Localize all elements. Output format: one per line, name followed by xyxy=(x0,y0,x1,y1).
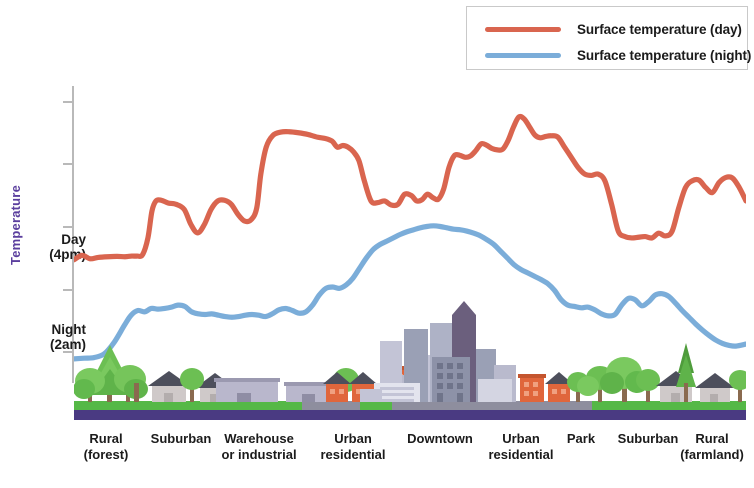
y-axis-tick xyxy=(63,101,73,103)
y-axis-tick xyxy=(63,289,73,291)
legend-label-day: Surface temperature (day) xyxy=(577,22,742,37)
park-group xyxy=(577,357,660,402)
legend-swatch-day xyxy=(485,27,561,32)
y-axis-tick xyxy=(63,226,73,228)
farmland-group xyxy=(729,305,746,403)
cityscape-illustration xyxy=(74,283,746,420)
y-axis-tick xyxy=(63,163,73,165)
ground-strip xyxy=(74,410,746,420)
legend-item-night: Surface temperature (night) xyxy=(467,42,747,68)
warehouse-group xyxy=(214,378,338,402)
road-strip xyxy=(392,401,592,410)
chart-legend: Surface temperature (day) Surface temper… xyxy=(466,6,748,70)
legend-label-night: Surface temperature (night) xyxy=(577,48,751,63)
forest-group xyxy=(74,345,148,402)
x-label-rural-farmland: Rural (farmland) xyxy=(652,431,754,463)
downtown-skyline-group xyxy=(360,301,516,402)
landscape-cross-section xyxy=(74,283,746,420)
road-strip xyxy=(302,401,360,410)
x-axis-labels: Rural (forest) Suburban Warehouse or ind… xyxy=(74,431,746,481)
suburban-right-group xyxy=(656,343,735,402)
legend-swatch-night xyxy=(485,53,561,58)
legend-item-day: Surface temperature (day) xyxy=(467,16,747,42)
day-temperature-line xyxy=(74,116,746,259)
